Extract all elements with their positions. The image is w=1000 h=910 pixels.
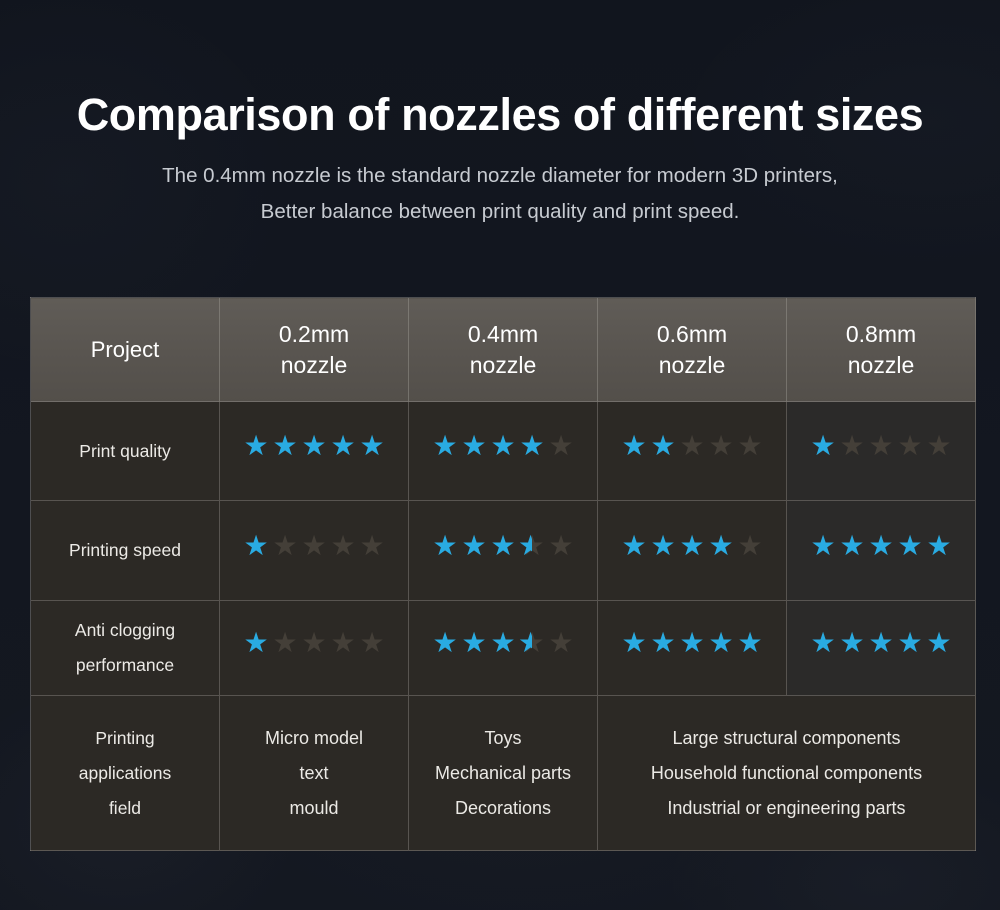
star-icon: ★★ [460,432,488,459]
star-icon: ★★ [736,432,764,459]
star-icon: ★★ [518,629,546,656]
column-header-unit: nozzle [598,350,786,381]
table-row-printing-speed: Printing speed ★★★★★★★★★★ ★★★★★★★★★★ ★★★… [31,501,976,601]
rating-cell-print-quality-0-4mm: ★★★★★★★★★★ [409,402,598,501]
rating-cell-anti-clogging-0-4mm: ★★★★★★★★★★ [409,601,598,696]
application-line-1: Toys [419,721,587,756]
star-rating: ★★★★★★★★★★ [620,629,764,656]
column-header-nozzle-0-6mm: 0.6mm nozzle [598,298,787,402]
star-icon: ★★ [300,532,328,559]
row-label-printing-applications-field: Printing applications field [31,696,220,851]
star-icon: ★★ [489,629,517,656]
column-header-nozzle-0-4mm: 0.4mm nozzle [409,298,598,402]
rating-cell-anti-clogging-0-2mm: ★★★★★★★★★★ [220,601,409,696]
star-icon: ★★ [547,532,575,559]
star-icon: ★★ [896,629,924,656]
star-icon: ★★ [649,532,677,559]
column-header-size: 0.6mm [598,319,786,350]
star-icon: ★★ [431,432,459,459]
rating-cell-printing-speed-0-2mm: ★★★★★★★★★★ [220,501,409,601]
star-icon: ★★ [896,432,924,459]
star-icon: ★★ [242,532,270,559]
applications-cell-0-4mm: Toys Mechanical parts Decorations [409,696,598,851]
application-line-3: mould [230,791,398,826]
page-title: Comparison of nozzles of different sizes [0,86,1000,144]
column-header-unit: nozzle [409,350,597,381]
star-icon: ★★ [271,629,299,656]
rating-cell-anti-clogging-0-6mm: ★★★★★★★★★★ [598,601,787,696]
star-icon: ★★ [649,432,677,459]
star-icon: ★★ [838,532,866,559]
star-icon: ★★ [649,629,677,656]
rating-cell-printing-speed-0-6mm: ★★★★★★★★★★ [598,501,787,601]
star-rating: ★★★★★★★★★★ [620,432,764,459]
column-header-unit: nozzle [787,350,975,381]
star-icon: ★★ [809,432,837,459]
star-icon: ★★ [736,532,764,559]
heading-block: Comparison of nozzles of different sizes… [0,86,1000,230]
star-icon: ★★ [925,432,953,459]
application-line-3: Industrial or engineering parts [608,791,965,826]
table-body: Print quality ★★★★★★★★★★ ★★★★★★★★★★ ★★★★… [31,402,976,851]
star-icon: ★★ [707,532,735,559]
star-icon: ★★ [678,532,706,559]
row-label-line-2: applications [31,756,219,791]
star-icon: ★★ [838,629,866,656]
table-row-print-quality: Print quality ★★★★★★★★★★ ★★★★★★★★★★ ★★★★… [31,402,976,501]
star-icon: ★★ [809,629,837,656]
star-icon: ★★ [271,532,299,559]
star-icon: ★★ [518,432,546,459]
star-rating: ★★★★★★★★★★ [431,532,575,559]
rating-cell-print-quality-0-8mm: ★★★★★★★★★★ [787,402,976,501]
star-rating: ★★★★★★★★★★ [242,432,386,459]
applications-cell-0-2mm: Micro model text mould [220,696,409,851]
star-icon: ★★ [300,432,328,459]
star-icon: ★★ [620,532,648,559]
star-icon: ★★ [838,432,866,459]
star-rating: ★★★★★★★★★★ [431,432,575,459]
column-header-size: 0.8mm [787,319,975,350]
star-icon: ★★ [896,532,924,559]
column-header-nozzle-0-2mm: 0.2mm nozzle [220,298,409,402]
rating-cell-printing-speed-0-4mm: ★★★★★★★★★★ [409,501,598,601]
row-label-anti-clogging-performance: Anti clogging performance [31,601,220,696]
star-icon: ★★ [431,629,459,656]
star-icon: ★★ [678,432,706,459]
subtitle-line-1: The 0.4mm nozzle is the standard nozzle … [0,158,1000,194]
star-rating: ★★★★★★★★★★ [809,532,953,559]
application-line-2: text [230,756,398,791]
rating-cell-print-quality-0-6mm: ★★★★★★★★★★ [598,402,787,501]
star-icon: ★★ [707,629,735,656]
star-icon: ★★ [358,629,386,656]
row-label-line-2: performance [31,648,219,683]
column-header-nozzle-0-8mm: 0.8mm nozzle [787,298,976,402]
star-icon: ★★ [867,532,895,559]
application-line-2: Mechanical parts [419,756,587,791]
row-label-line-1: Print quality [31,434,219,469]
star-icon: ★★ [867,432,895,459]
row-label-print-quality: Print quality [31,402,220,501]
nozzle-comparison-table: Project 0.2mm nozzle 0.4mm nozzle 0.6mm … [30,297,976,851]
application-line-1: Micro model [230,721,398,756]
star-icon: ★★ [678,629,706,656]
table-header-row: Project 0.2mm nozzle 0.4mm nozzle 0.6mm … [31,298,976,402]
table-row-anti-clogging-performance: Anti clogging performance ★★★★★★★★★★ ★★★… [31,601,976,696]
row-label-line-1: Anti clogging [31,613,219,648]
rating-cell-printing-speed-0-8mm: ★★★★★★★★★★ [787,501,976,601]
star-icon: ★★ [489,432,517,459]
applications-cell-0-6mm-and-0-8mm: Large structural components Household fu… [598,696,976,851]
row-label-printing-speed: Printing speed [31,501,220,601]
star-icon: ★★ [271,432,299,459]
star-icon: ★★ [620,629,648,656]
star-icon: ★★ [736,629,764,656]
star-icon: ★★ [329,532,357,559]
application-line-3: Decorations [419,791,587,826]
star-icon: ★★ [300,629,328,656]
page-root: Comparison of nozzles of different sizes… [0,0,1000,910]
star-icon: ★★ [358,432,386,459]
star-icon: ★★ [867,629,895,656]
application-line-1: Large structural components [608,721,965,756]
row-label-line-1: Printing speed [31,533,219,568]
star-icon: ★★ [242,432,270,459]
star-icon: ★★ [547,629,575,656]
column-header-size: 0.2mm [220,319,408,350]
star-icon: ★★ [547,432,575,459]
application-line-2: Household functional components [608,756,965,791]
row-label-line-3: field [31,791,219,826]
column-header-size: 0.4mm [409,319,597,350]
column-header-unit: nozzle [220,350,408,381]
star-icon: ★★ [329,629,357,656]
star-icon: ★★ [620,432,648,459]
star-icon: ★★ [518,532,546,559]
star-icon: ★★ [489,532,517,559]
star-rating: ★★★★★★★★★★ [242,532,386,559]
star-rating: ★★★★★★★★★★ [809,432,953,459]
star-icon: ★★ [329,432,357,459]
star-icon: ★★ [925,629,953,656]
subtitle-block: The 0.4mm nozzle is the standard nozzle … [0,158,1000,230]
column-header-project: Project [31,298,220,402]
rating-cell-anti-clogging-0-8mm: ★★★★★★★★★★ [787,601,976,696]
subtitle-line-2: Better balance between print quality and… [0,194,1000,230]
star-icon: ★★ [242,629,270,656]
star-rating: ★★★★★★★★★★ [242,629,386,656]
star-icon: ★★ [358,532,386,559]
star-rating: ★★★★★★★★★★ [620,532,764,559]
star-rating: ★★★★★★★★★★ [431,629,575,656]
star-icon: ★★ [925,532,953,559]
star-icon: ★★ [431,532,459,559]
star-rating: ★★★★★★★★★★ [809,629,953,656]
row-label-line-1: Printing [31,721,219,756]
star-icon: ★★ [460,629,488,656]
star-icon: ★★ [809,532,837,559]
table-row-printing-applications-field: Printing applications field Micro model … [31,696,976,851]
star-icon: ★★ [460,532,488,559]
star-icon: ★★ [707,432,735,459]
rating-cell-print-quality-0-2mm: ★★★★★★★★★★ [220,402,409,501]
table-head: Project 0.2mm nozzle 0.4mm nozzle 0.6mm … [31,298,976,402]
